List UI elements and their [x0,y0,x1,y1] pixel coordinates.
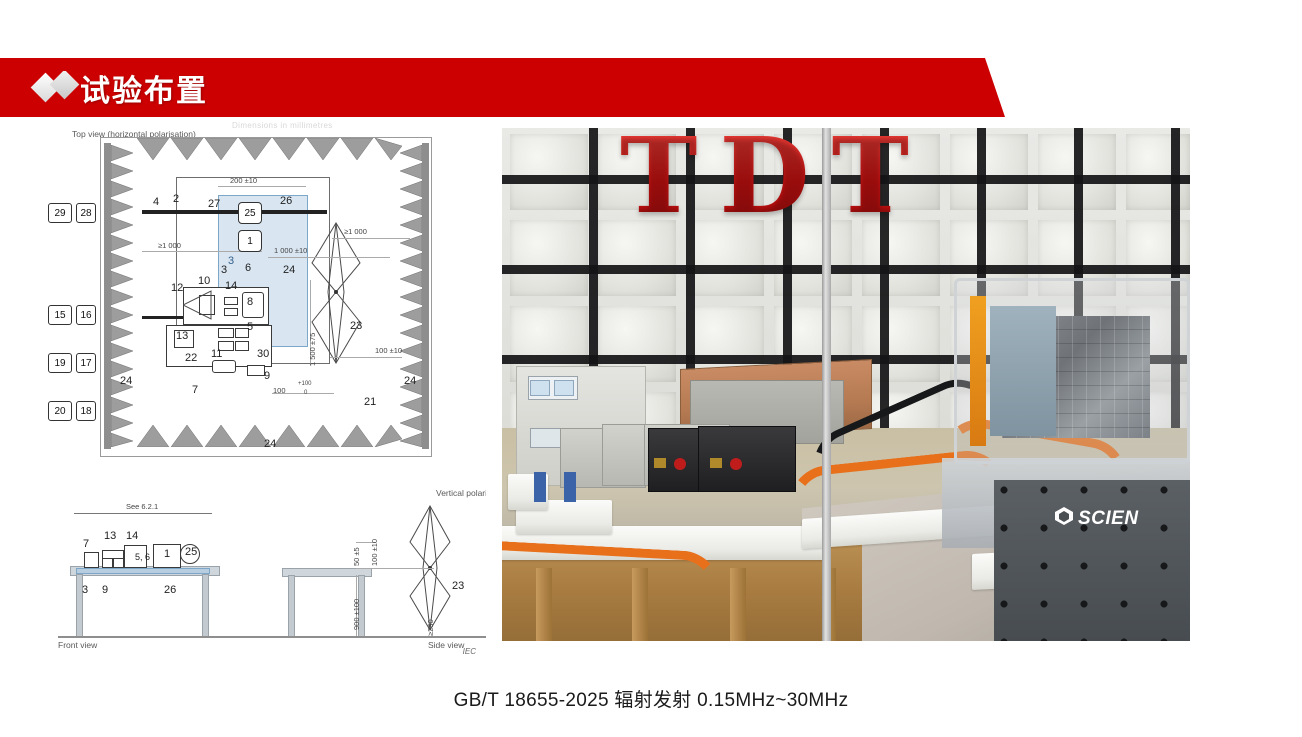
chamber-photograph: TDT [502,128,1190,641]
callout-14: 14 [225,280,237,292]
fv-eq-9 [113,558,124,568]
blue-clamp-1 [534,472,546,502]
callout-10: 10 [198,275,210,287]
fv-callout-9: 9 [102,584,108,596]
blue-clamp-2 [564,472,576,502]
dim-100-10: 100 ±10 [375,346,402,355]
dim-200: 200 ±10 [230,176,257,185]
fv-eq-13b [102,558,113,568]
dimension-note: Dimensions in millimetres [232,121,333,130]
callout-27: 27 [208,198,220,210]
fv-callout-7: 7 [83,538,89,550]
iec-setup-diagram: Dimensions in millimetres Top view (hori… [42,120,486,656]
dimline-see-621 [74,513,212,514]
callout-box-17: 17 [76,353,96,373]
callout-24-top: 24 [283,264,295,276]
callout-box-1: 1 [238,230,262,252]
slide-root: 试验布置 Dimensions in millimetres Top view … [0,0,1302,737]
eut-side-panel [990,306,1056,436]
side-view-floor [270,636,486,638]
callout-box-19: 19 [48,353,72,373]
iec-mark: IEC [463,647,476,656]
eut-part-k [247,365,265,376]
fv-callout-25: 25 [185,546,197,558]
fv-eq-7 [84,552,99,568]
fv-callout-14: 14 [126,530,138,542]
side-view-label: Side view [428,640,464,650]
front-view: See 6.2.1 7 13 14 5, 6 1 25 3 9 26 Fro [42,480,292,656]
callout-26: 26 [280,195,292,207]
chamber-support-pole [822,128,831,641]
fv-callout-1: 1 [164,548,170,560]
eut-part-c [224,308,238,316]
side-callout-23: 23 [452,580,464,592]
callout-13: 13 [176,330,188,342]
eut-part-j [212,360,236,373]
front-view-label: Front view [58,640,97,650]
callout-30: 30 [257,348,269,360]
bench-leg-3 [730,568,746,641]
callout-box-28: 28 [76,203,96,223]
cable-harness-cone [183,287,213,323]
lisn-terminal-brass-1 [654,458,666,468]
side-dimline-top [356,568,434,569]
callout-9: 9 [264,370,270,382]
callout-box-29: 29 [48,203,72,223]
callout-4: 4 [153,196,159,208]
lisn-terminal-brass-2 [710,458,722,468]
lisn-terminal-red-2 [730,458,742,470]
callout-box-25: 25 [238,202,262,224]
dim-see-621: See 6.2.1 [126,502,158,511]
absorber-teeth-right [400,145,422,447]
callout-3b: 3 [228,255,234,267]
absorber-teeth-left [111,145,133,447]
side-view-leg-left [288,575,295,638]
dim-100-10b: 100 ±10 [370,539,379,566]
absorber-teeth-top [137,138,402,160]
front-view-ground-plane [76,568,210,574]
callout-3: 3 [221,264,227,276]
front-view-floor [58,636,276,638]
dimline-100 [330,357,402,358]
callout-box-18: 18 [76,401,96,421]
callout-24-bottom: 24 [264,438,276,450]
callout-5: 5 [247,321,253,333]
dim-100: 100 [273,386,286,395]
chamber-wall-left [104,143,111,449]
antenna-feed-line [142,210,327,214]
absorber-panel-studs [994,480,1190,641]
lisn-terminal-red-1 [674,458,686,470]
chamber-wall-right [422,143,429,449]
eut-orange-bracket [970,296,986,446]
callout-12: 12 [171,282,183,294]
fv-callout-26: 26 [164,584,176,596]
meter-1 [530,380,550,396]
eut-part-b [224,297,238,305]
absorber-panel-branded: SCIEN [994,480,1190,641]
eut-part-f [218,328,234,338]
side-view: Vertical polarisation 50 ±5 100 ±10 900 … [270,480,486,656]
hv-cable-orange-3 [502,539,723,641]
dim-1500: 1 500 ±75 [308,333,317,366]
fv-callout-3: 3 [82,584,88,596]
callout-22: 22 [185,352,197,364]
dim-900: 900 ±100 [352,599,361,630]
dim-100-tol-hi: +100 [298,381,312,387]
absorber-brand-text: SCIEN [1078,508,1139,530]
meter-2 [554,380,574,396]
dimline-ge1000b [332,238,410,239]
front-view-leg-right [202,574,209,638]
callout-2: 2 [173,193,179,205]
sci-hex-logo-icon [1054,506,1074,526]
fv-callout-13: 13 [104,530,116,542]
callout-23: 23 [350,320,362,332]
wall-sign-tdt: TDT [620,128,931,237]
vertical-polarisation-label: Vertical polarisation [436,488,486,499]
eut-part-i [235,341,249,351]
dimline-200 [218,186,306,187]
dim-1000: 1 000 ±10 [274,246,307,255]
callout-8: 8 [247,296,253,308]
callout-24-left: 24 [120,375,132,387]
dimline-1000 [268,257,390,258]
callout-box-20: 20 [48,401,72,421]
dim-ge1000-a: ≥1 000 [158,241,181,250]
page-title: 试验布置 [80,66,208,110]
dim-50: 50 ±5 [352,547,361,566]
callout-6: 6 [245,262,251,274]
fv-callout-5-6: 5, 6 [135,552,150,562]
callout-21: 21 [364,396,376,408]
callout-box-16: 16 [76,305,96,325]
dim-250: ≥250 [426,619,435,636]
callout-box-15: 15 [48,305,72,325]
callout-11: 11 [211,348,222,360]
diamond-pair-icon [30,71,86,105]
biconical-antenna-side-view [400,502,460,636]
dim-ge1000-b: ≥1 000 [344,227,367,236]
figure-caption: GB/T 18655-2025 辐射发射 0.15MHz~30MHz [0,685,1302,712]
dim-100-tol-lo: 0 [304,390,307,396]
callout-24-right: 24 [404,375,416,387]
callout-7: 7 [192,384,198,396]
